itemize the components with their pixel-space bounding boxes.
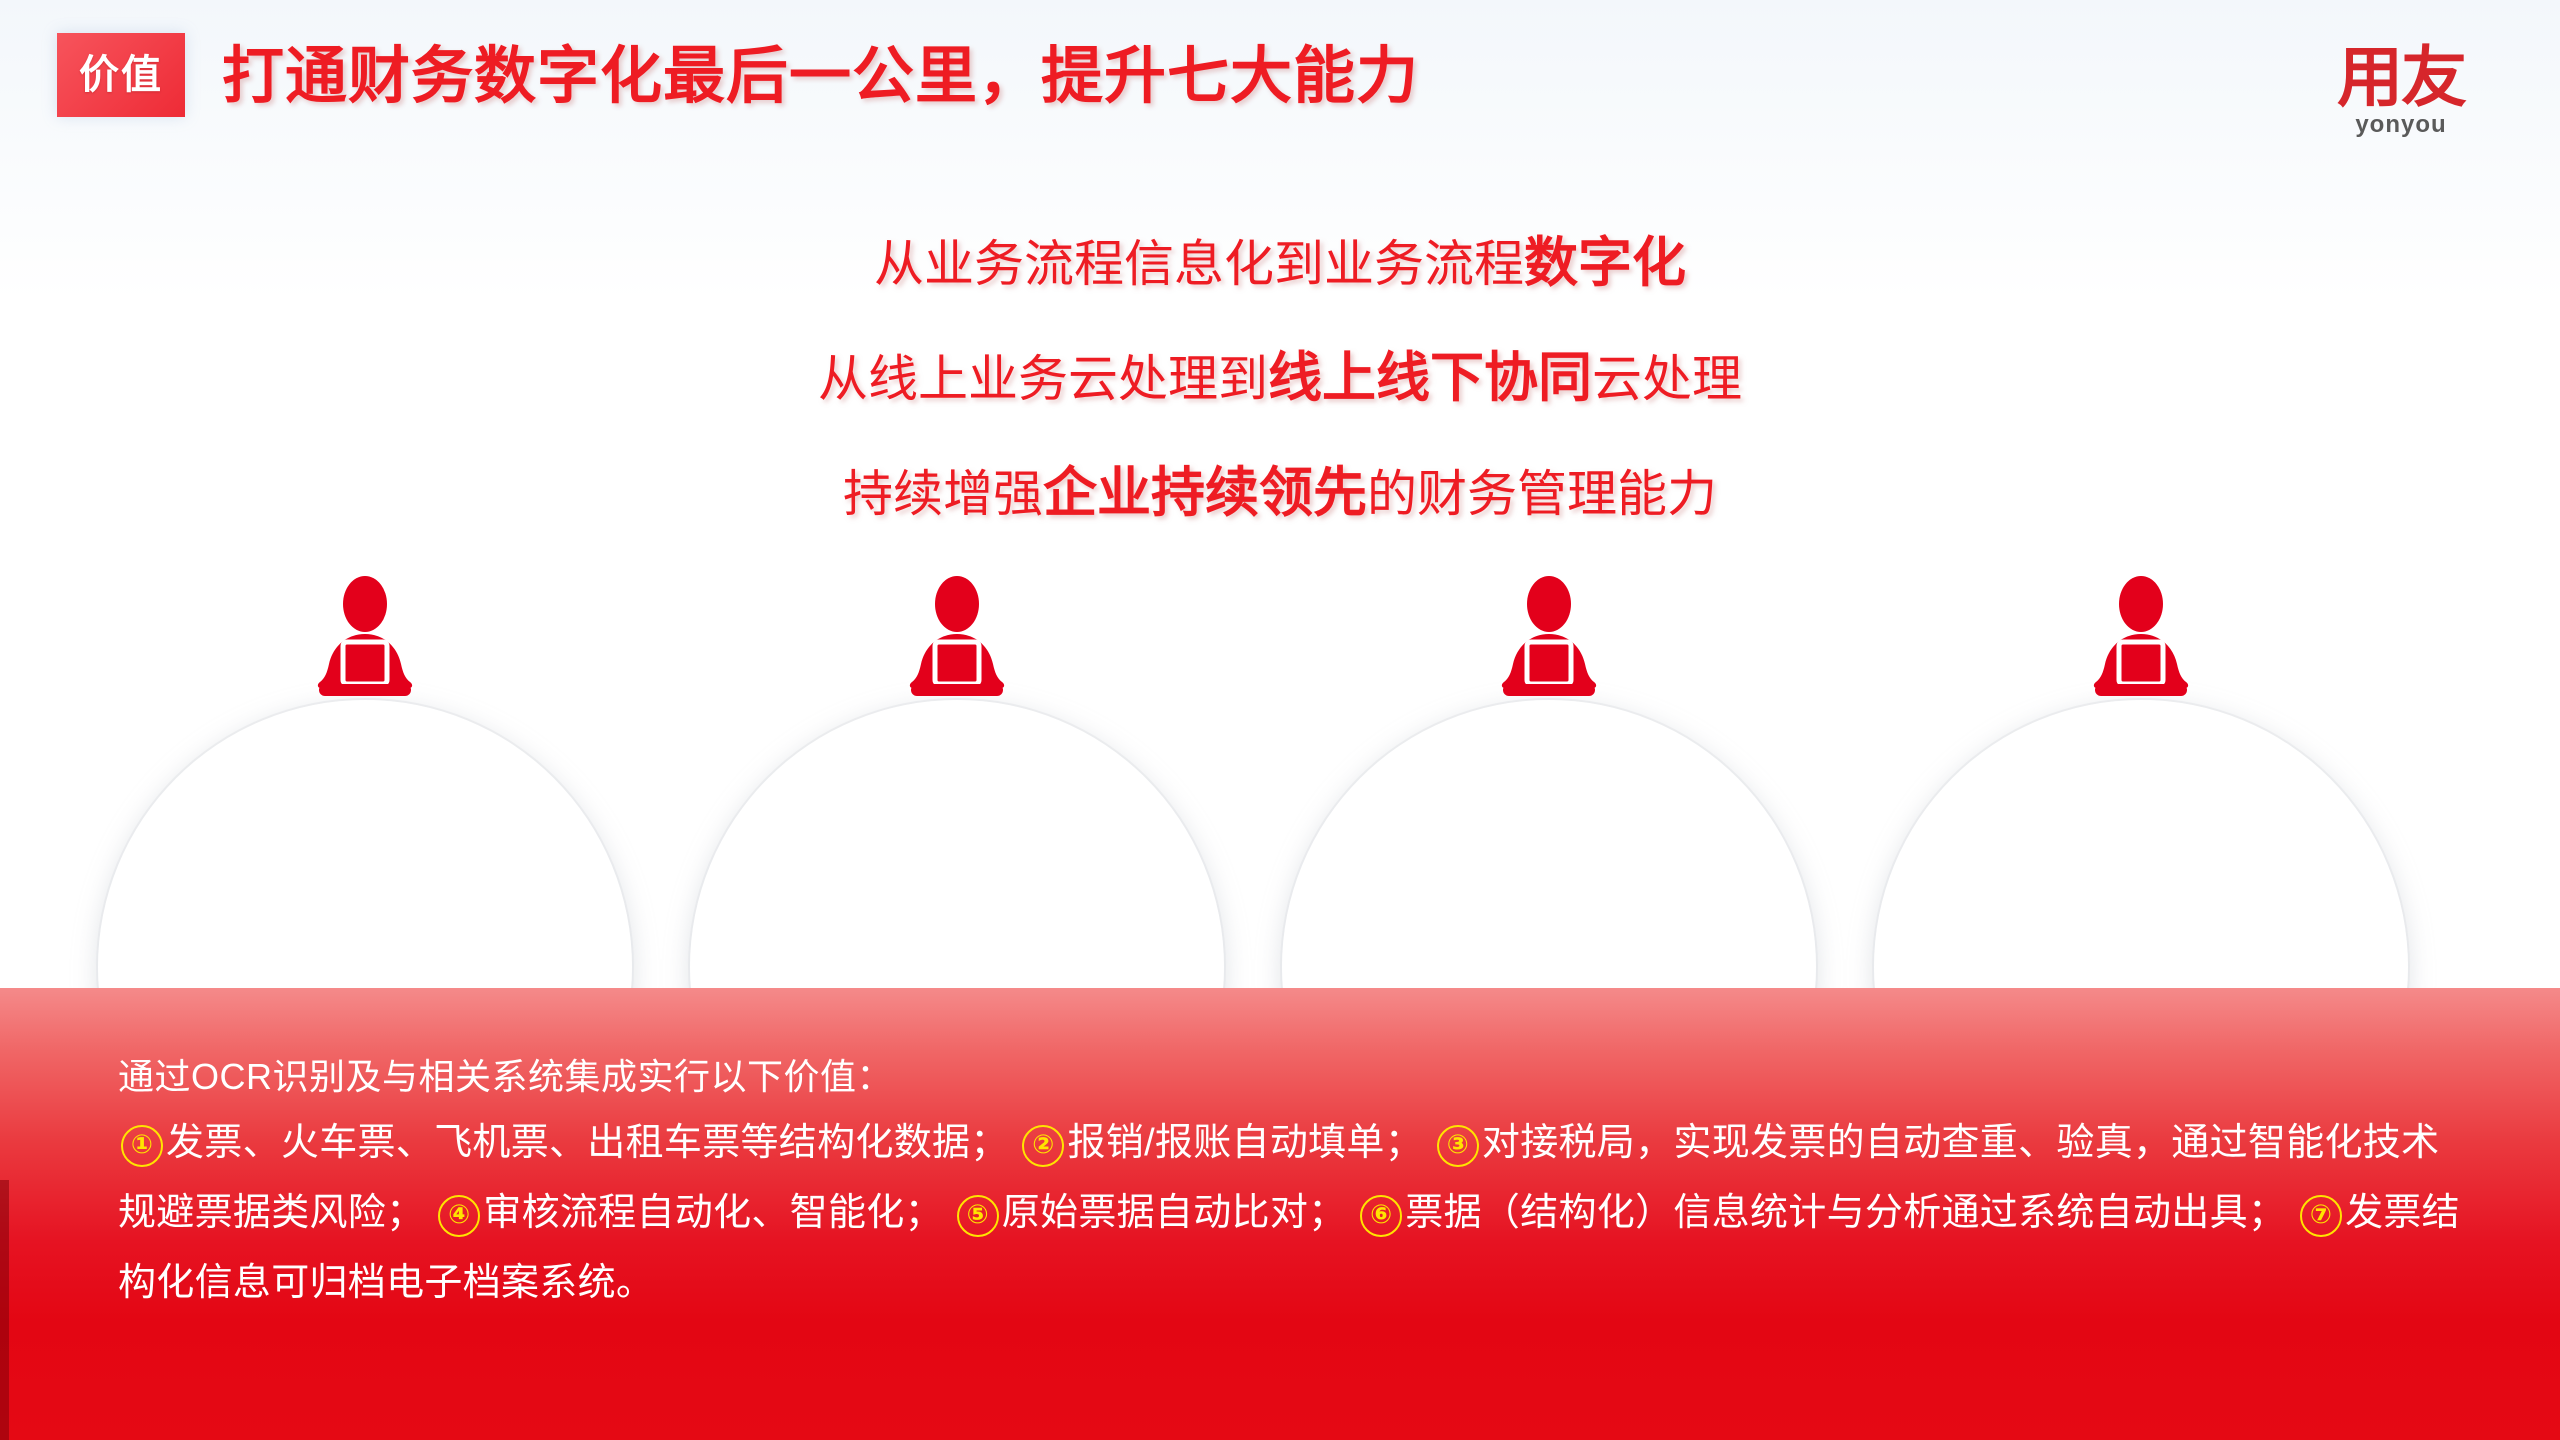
subtitle-line-1: 从业务流程信息化到业务流程数字化 [0,206,2560,321]
page-title: 打通财务数字化最后一公里，提升七大能力 [222,36,1419,118]
subtitle-3-emphasis: 企业持续领先 [1043,463,1367,523]
list-item-2-text: 报销/报账自动填单； [1067,1122,1423,1164]
list-marker-7: ⑦ [2300,1195,2342,1237]
panel-left-edge-accent [0,1180,9,1440]
person-at-laptop-icon [1483,572,1615,704]
panel-content: 通过OCR识别及与相关系统集成实行以下价值： ①发票、火车票、飞机票、出租车票等… [118,1046,2480,1318]
subtitle-line-3: 持续增强企业持续领先的财务管理能力 [0,436,2560,551]
list-marker-1: ① [121,1125,163,1167]
list-item-1-text: 发票、火车票、飞机票、出租车票等结构化数据； [166,1122,1009,1164]
yonyou-logo: 用友 yonyou [2337,44,2465,138]
subtitle-1-plain-before: 从业务流程信息化到业务流程 [874,236,1524,292]
list-item-5-text: 原始票据自动比对； [1002,1192,1347,1234]
value-summary-panel: 通过OCR识别及与相关系统集成实行以下价值： ①发票、火车票、飞机票、出租车票等… [0,988,2560,1440]
panel-heading: 通过OCR识别及与相关系统集成实行以下价值： [118,1046,2480,1108]
logo-latin-text: yonyou [2337,112,2465,138]
value-badge: 价值 [57,33,185,117]
list-item-4-text: 审核流程自动化、智能化； [483,1192,943,1234]
dome-group: 财务工作量解放 提高企业监管精细度 内部管理赋能 管理会计转型 [0,560,2560,1030]
panel-item-list: ①发票、火车票、飞机票、出租车票等结构化数据； ②报销/报账自动填单； ③对接税… [118,1108,2466,1318]
list-marker-2: ② [1022,1125,1064,1167]
person-at-laptop-icon [299,572,431,704]
list-marker-5: ⑤ [957,1195,999,1237]
list-marker-6: ⑥ [1360,1195,1402,1237]
value-badge-label: 价值 [79,55,163,95]
list-marker-3: ③ [1437,1125,1479,1167]
subtitle-3-plain-before: 持续增强 [843,466,1043,522]
list-item-6-text: 票据（结构化）信息统计与分析通过系统自动出具； [1405,1192,2286,1234]
subtitle-1-emphasis: 数字化 [1524,233,1686,293]
list-marker-4: ④ [438,1195,480,1237]
logo-chinese-text: 用友 [2337,44,2465,110]
person-at-laptop-icon [2075,572,2207,704]
subtitle-line-2: 从线上业务云处理到线上线下协同云处理 [0,321,2560,436]
subtitle-3-plain-after: 的财务管理能力 [1367,466,1717,522]
subtitle-2-emphasis: 线上线下协同 [1268,348,1592,408]
subtitle-2-plain-after: 云处理 [1592,351,1742,407]
person-at-laptop-icon [891,572,1023,704]
subtitle-2-plain-before: 从线上业务云处理到 [818,351,1268,407]
subtitle-block: 从业务流程信息化到业务流程数字化 从线上业务云处理到线上线下协同云处理 持续增强… [0,206,2560,551]
slide-header: 价值 打通财务数字化最后一公里，提升七大能力 用友 yonyou [0,0,2560,180]
